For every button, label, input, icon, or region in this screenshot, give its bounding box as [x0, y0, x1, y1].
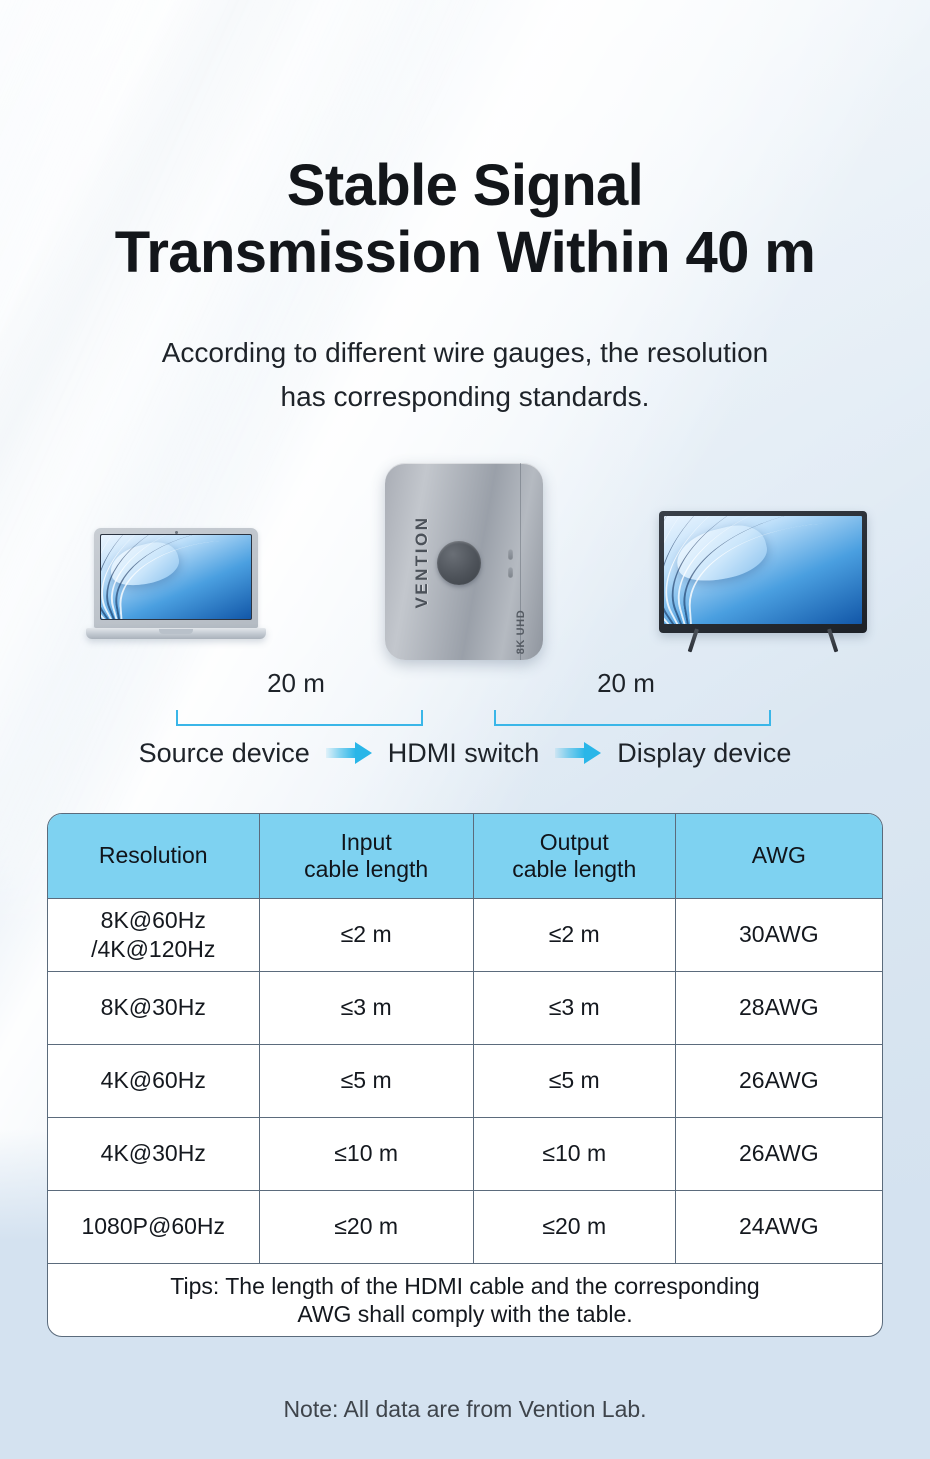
cell-resolution: 8K@60Hz /4K@120Hz — [48, 898, 259, 971]
cell-output-cable-length: ≤10 m — [473, 1117, 675, 1190]
page-title: Stable Signal Transmission Within 40 m — [0, 152, 930, 287]
laptop-lid — [94, 528, 258, 628]
table-header-row: Resolution Input cable length Output cab… — [48, 814, 882, 898]
distance-label-input: 20 m — [166, 668, 426, 699]
title-line-2: Transmission Within 40 m — [0, 219, 930, 286]
cell-awg: 30AWG — [675, 898, 882, 971]
arrow-right-icon — [555, 742, 601, 764]
table-tips-text: Tips: The length of the HDMI cable and t… — [48, 1263, 882, 1336]
wallpaper-bloom — [101, 535, 251, 619]
measure-bracket-input — [176, 710, 423, 726]
subtitle-line-2: has corresponding standards. — [0, 375, 930, 419]
table-tips-row: Tips: The length of the HDMI cable and t… — [48, 1263, 882, 1336]
switch-led-indicator-1 — [508, 549, 513, 560]
cell-resolution: 1080P@60Hz — [48, 1190, 259, 1263]
table-row: 4K@60Hz ≤5 m ≤5 m 26AWG — [48, 1044, 882, 1117]
spec-table: Resolution Input cable length Output cab… — [48, 814, 882, 1336]
column-header-input-cable-length: Input cable length — [259, 814, 473, 898]
laptop-notch — [159, 629, 193, 634]
cell-output-cable-length: ≤3 m — [473, 971, 675, 1044]
switch-select-button[interactable] — [437, 541, 481, 585]
cell-resolution: 4K@60Hz — [48, 1044, 259, 1117]
laptop-screen — [100, 534, 252, 620]
bloom-fan — [101, 535, 251, 619]
hdmi-switch-device: VENTION 8K UHD — [385, 463, 543, 660]
table-row: 1080P@60Hz ≤20 m ≤20 m 24AWG — [48, 1190, 882, 1263]
tv-frame — [659, 511, 867, 633]
tv-screen — [664, 516, 862, 624]
cell-awg: 26AWG — [675, 1117, 882, 1190]
distance-label-output: 20 m — [496, 668, 756, 699]
measure-bracket-output — [494, 710, 771, 726]
source-device-label: Source device — [139, 738, 310, 769]
signal-flow-row: Source device HDMI switch Display device — [0, 728, 930, 778]
page-note: Note: All data are from Vention Lab. — [0, 1396, 930, 1423]
column-header-output-cable-length: Output cable length — [473, 814, 675, 898]
column-header-awg: AWG — [675, 814, 882, 898]
page-subtitle: According to different wire gauges, the … — [0, 331, 930, 418]
hdmi-switch-label: HDMI switch — [388, 738, 540, 769]
switch-spec-label: 8K UHD — [515, 601, 527, 660]
subtitle-line-1: According to different wire gauges, the … — [0, 331, 930, 375]
cell-resolution: 4K@30Hz — [48, 1117, 259, 1190]
cell-output-cable-length: ≤5 m — [473, 1044, 675, 1117]
title-line-1: Stable Signal — [0, 152, 930, 219]
bloom-fan — [664, 516, 862, 624]
wallpaper-bloom — [664, 516, 862, 624]
cell-input-cable-length: ≤10 m — [259, 1117, 473, 1190]
cell-awg: 26AWG — [675, 1044, 882, 1117]
spec-table-card: Resolution Input cable length Output cab… — [47, 813, 883, 1337]
column-header-resolution: Resolution — [48, 814, 259, 898]
table-row: 8K@60Hz /4K@120Hz ≤2 m ≤2 m 30AWG — [48, 898, 882, 971]
cell-input-cable-length: ≤2 m — [259, 898, 473, 971]
cell-input-cable-length: ≤3 m — [259, 971, 473, 1044]
display-device-label: Display device — [617, 738, 791, 769]
tv-icon — [659, 511, 867, 654]
table-row: 8K@30Hz ≤3 m ≤3 m 28AWG — [48, 971, 882, 1044]
cell-output-cable-length: ≤20 m — [473, 1190, 675, 1263]
cell-output-cable-length: ≤2 m — [473, 898, 675, 971]
table-row: 4K@30Hz ≤10 m ≤10 m 26AWG — [48, 1117, 882, 1190]
cell-awg: 24AWG — [675, 1190, 882, 1263]
switch-led-indicator-2 — [508, 567, 513, 578]
cell-resolution: 8K@30Hz — [48, 971, 259, 1044]
device-illustration: VENTION 8K UHD — [0, 455, 930, 670]
cell-input-cable-length: ≤20 m — [259, 1190, 473, 1263]
cell-input-cable-length: ≤5 m — [259, 1044, 473, 1117]
cell-awg: 28AWG — [675, 971, 882, 1044]
switch-brand-label: VENTION — [412, 512, 432, 612]
arrow-right-icon — [326, 742, 372, 764]
laptop-icon — [86, 528, 266, 646]
